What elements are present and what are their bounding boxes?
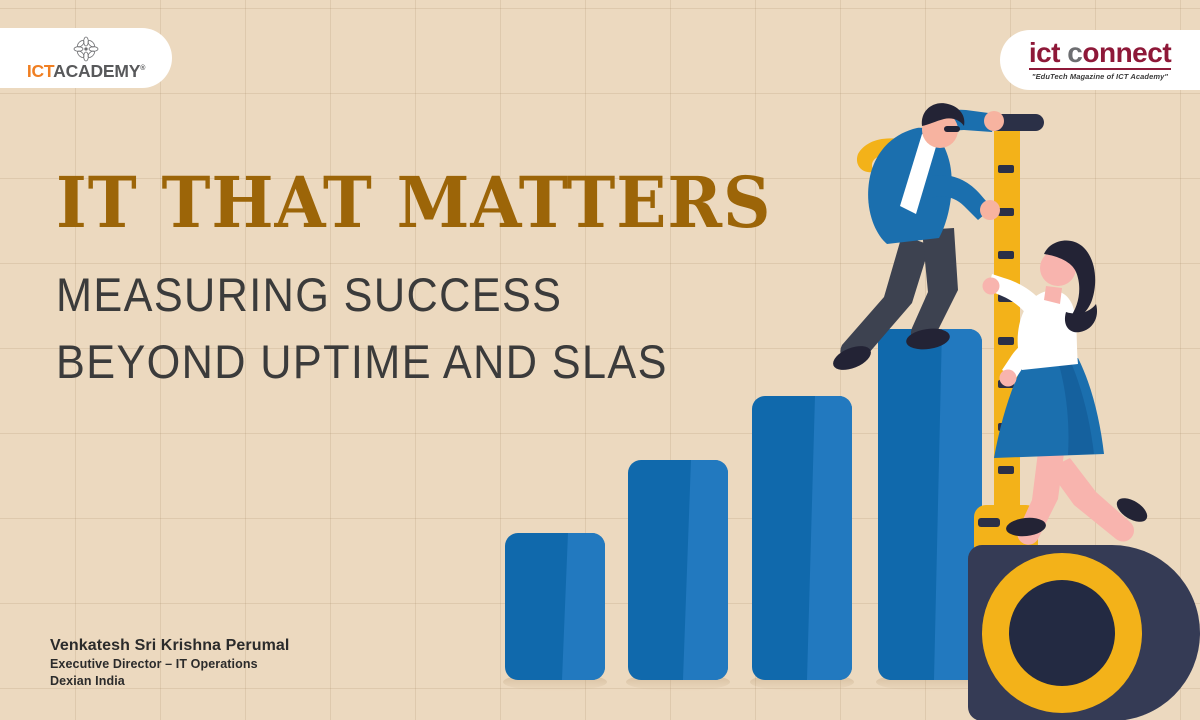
ict-academy-wordmark: ICTACADEMY® <box>27 63 145 81</box>
connect-word-ict: ict <box>1029 37 1060 68</box>
speaker-role: Executive Director – IT Operations <box>50 656 289 673</box>
ict-connect-wordmark: ict connect <box>1029 39 1171 70</box>
chart-bar-2 <box>628 460 728 680</box>
wordmark-academy: ACADEMY <box>53 61 140 81</box>
headline-subtitle-line-2: BEYOND UPTIME AND SLAS <box>56 329 783 396</box>
ict-connect-tagline: "EduTech Magazine of ICT Academy" <box>1032 72 1168 81</box>
headline-block: IT THAT MATTERS MEASURING SUCCESS BEYOND… <box>56 168 846 395</box>
ict-academy-logo-badge[interactable]: ICTACADEMY® <box>0 28 172 88</box>
connect-word-c: c <box>1067 37 1082 68</box>
ict-connect-logo-badge[interactable]: ict connect "EduTech Magazine of ICT Aca… <box>1000 30 1200 90</box>
chart-bar-1 <box>505 533 605 680</box>
wordmark-ict: ICT <box>27 61 53 81</box>
registered-mark: ® <box>140 65 145 72</box>
ict-academy-floral-mark <box>71 36 101 62</box>
banner-canvas: ICTACADEMY® ict connect "EduTech Magazin… <box>0 0 1200 720</box>
chart-bar-4 <box>878 329 982 680</box>
tape-measure-reel <box>968 505 1200 720</box>
connect-word-onnect: onnect <box>1082 37 1171 68</box>
speaker-byline: Venkatesh Sri Krishna Perumal Executive … <box>50 636 289 690</box>
chart-bar-3 <box>752 396 852 680</box>
speaker-organization: Dexian India <box>50 673 289 690</box>
headline-title: IT THAT MATTERS <box>56 168 799 238</box>
headline-subtitle-line-1: MEASURING SUCCESS <box>56 262 783 329</box>
speaker-name: Venkatesh Sri Krishna Perumal <box>50 636 289 656</box>
